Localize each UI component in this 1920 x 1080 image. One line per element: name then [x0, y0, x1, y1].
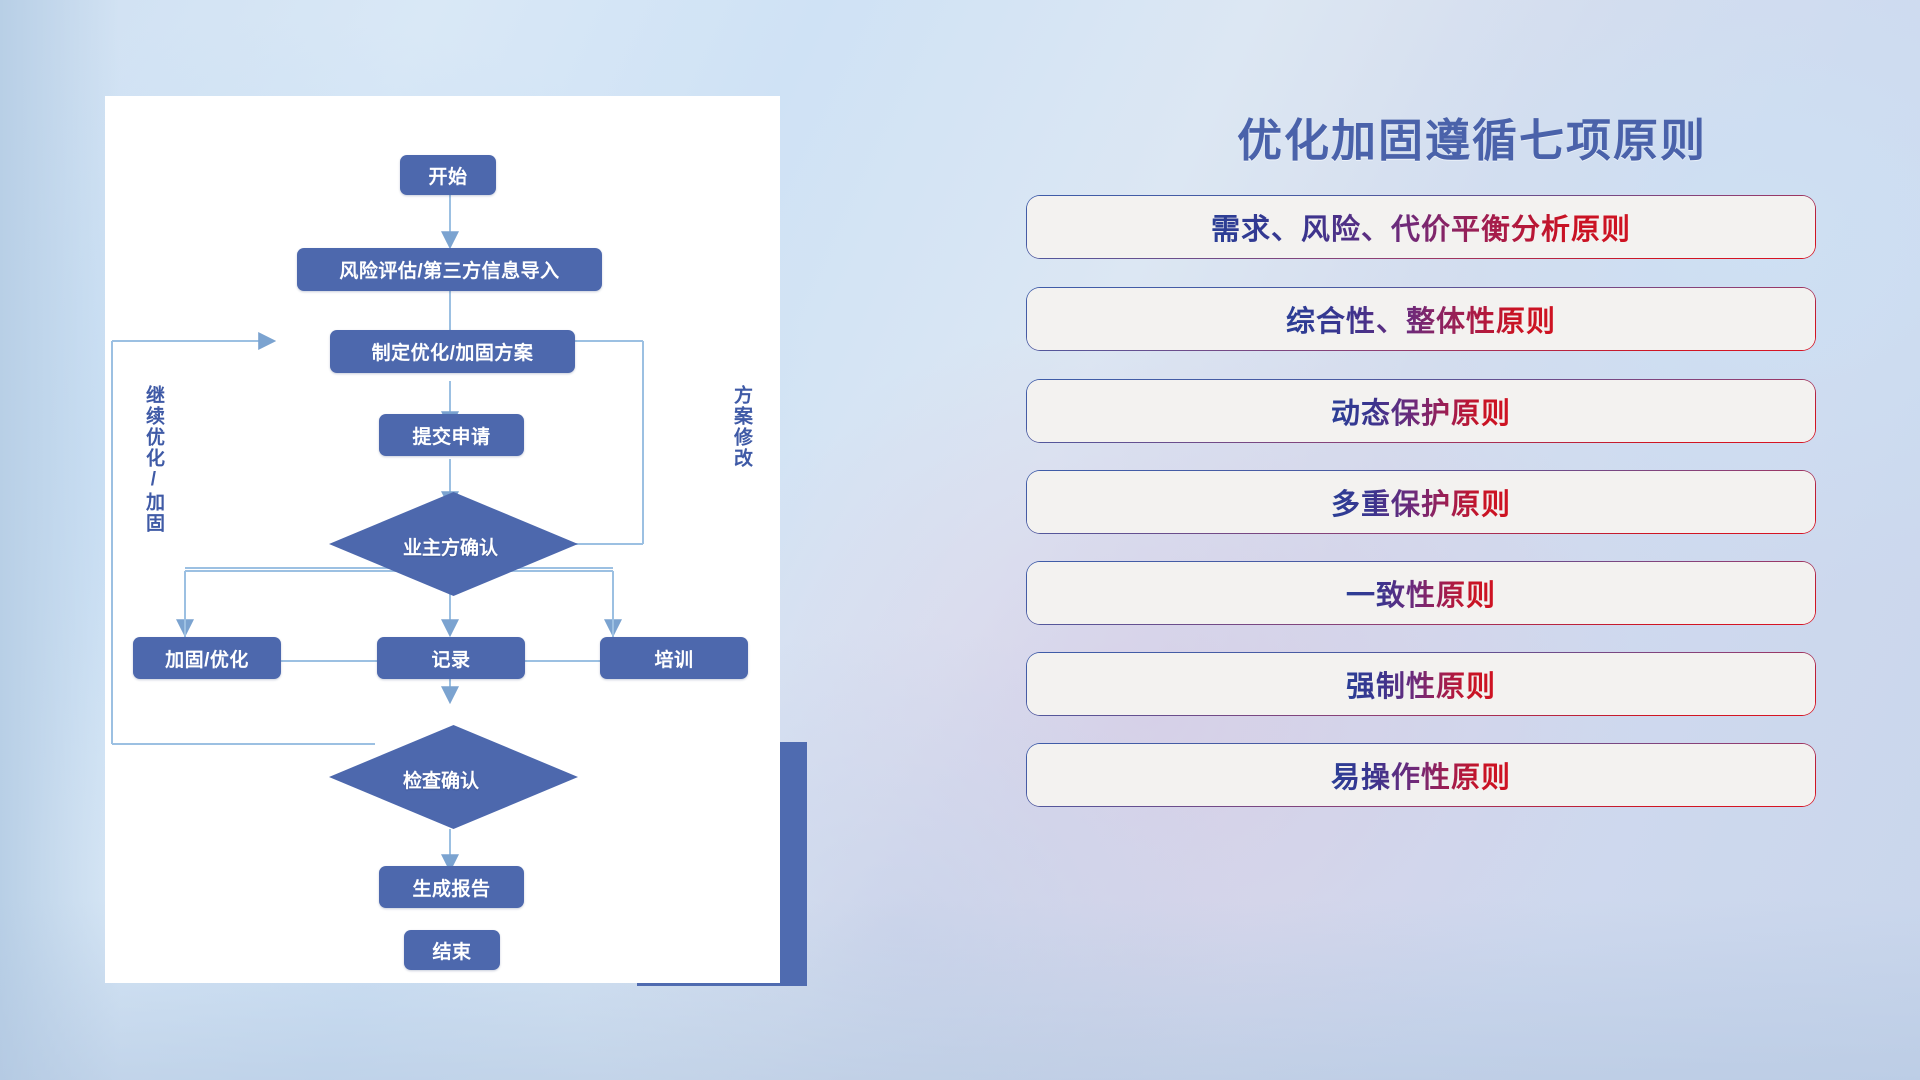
principle-item-1-label: 需求、风险、代价平衡分析原则: [1211, 206, 1631, 248]
principle-item-4[interactable]: 多重保护原则: [1027, 471, 1815, 533]
flow-node-report-label: 生成报告: [412, 874, 490, 901]
principle-item-5-label: 一致性原则: [1346, 572, 1496, 614]
principle-item-2-label: 综合性、整体性原则: [1286, 298, 1556, 340]
flow-node-submit-label: 提交申请: [412, 422, 490, 449]
flowchart-panel: 开始 风险评估/第三方信息导入 制定优化/加固方案 提交申请 业主方确认 加固/…: [0, 0, 840, 1080]
flow-node-check-confirm-label: 检查确认: [403, 766, 479, 793]
flow-node-record-label: 记录: [431, 645, 470, 672]
principle-item-5[interactable]: 一致性原则: [1027, 562, 1815, 624]
flow-node-owner-confirm-label: 业主方确认: [403, 533, 498, 560]
flow-node-reinforce[interactable]: 加固/优化: [133, 637, 281, 679]
principle-item-3-label: 动态保护原则: [1331, 390, 1511, 432]
flow-node-plan-label: 制定优化/加固方案: [372, 338, 534, 365]
flow-node-start[interactable]: 开始: [400, 155, 496, 195]
flow-node-train-label: 培训: [654, 645, 693, 672]
principle-item-3[interactable]: 动态保护原则: [1027, 380, 1815, 442]
flow-node-start-label: 开始: [428, 162, 467, 189]
principle-item-2[interactable]: 综合性、整体性原则: [1027, 288, 1815, 350]
flow-node-train[interactable]: 培训: [600, 637, 748, 679]
flow-node-risk[interactable]: 风险评估/第三方信息导入: [297, 248, 602, 291]
flow-node-report[interactable]: 生成报告: [379, 866, 524, 908]
flow-node-risk-label: 风险评估/第三方信息导入: [339, 256, 559, 283]
principle-item-1[interactable]: 需求、风险、代价平衡分析原则: [1027, 196, 1815, 258]
principle-item-6[interactable]: 强制性原则: [1027, 653, 1815, 715]
flow-edge-label-continue-optimize: 继续优化/加固: [143, 385, 163, 555]
flow-node-reinforce-label: 加固/优化: [165, 645, 249, 672]
flow-node-plan[interactable]: 制定优化/加固方案: [330, 330, 575, 373]
flow-node-submit[interactable]: 提交申请: [379, 414, 524, 456]
principle-item-4-label: 多重保护原则: [1331, 481, 1511, 523]
page-title: 优化加固遵循七项原则: [1152, 104, 1792, 169]
principle-item-7[interactable]: 易操作性原则: [1027, 744, 1815, 806]
flow-node-record[interactable]: 记录: [377, 637, 525, 679]
flow-node-end-label: 结束: [432, 937, 471, 964]
principles-panel: 优化加固遵循七项原则 需求、风险、代价平衡分析原则 综合性、整体性原则 动态保护…: [1020, 0, 1920, 1080]
principle-item-6-label: 强制性原则: [1346, 663, 1496, 705]
flow-edge-label-plan-revise: 方案修改: [731, 385, 751, 505]
flow-node-end[interactable]: 结束: [404, 930, 500, 970]
principle-item-7-label: 易操作性原则: [1331, 754, 1511, 796]
